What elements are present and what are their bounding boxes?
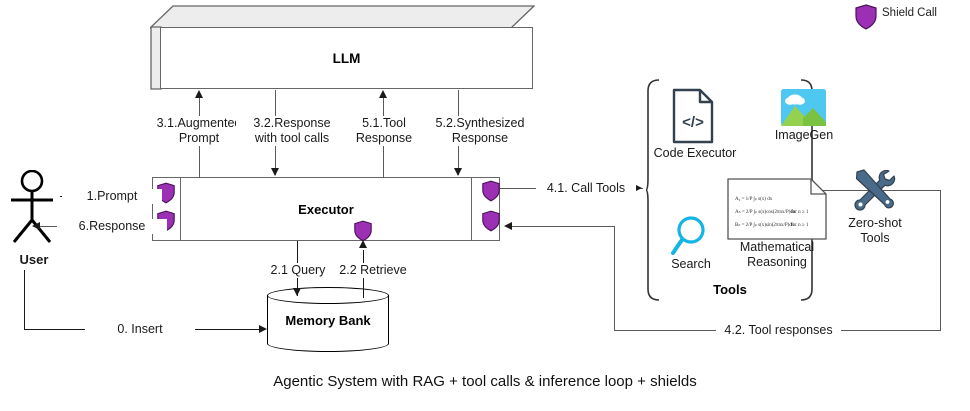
executor-node: Executor xyxy=(152,177,500,241)
magnifier-icon xyxy=(670,215,710,257)
edge-label-prompt: 1.Prompt xyxy=(62,189,162,204)
edge-label-tool-calls-l2: with tool calls xyxy=(236,131,348,146)
svg-text:</>: </> xyxy=(682,114,704,131)
edge-tool-calls-arrowhead xyxy=(271,168,279,176)
tools-group-label: Tools xyxy=(645,282,815,297)
llm-label: LLM xyxy=(160,27,533,89)
memory-bank-label: Memory Bank xyxy=(267,303,389,337)
svg-text:Aₙ = 2/P ∫ₚ s(x)cos(2πnx/P)dx: Aₙ = 2/P ∫ₚ s(x)cos(2πnx/P)dx xyxy=(735,209,796,215)
tool-label-search: Search xyxy=(656,257,726,272)
tool-label-imagegen: ImageGen xyxy=(760,128,848,143)
legend-shield-icon xyxy=(855,4,877,35)
formula-document-icon: A₀ = 1/P ∫ₚ s(x) dx Aₙ = 2/P ∫ₚ s(x)cos(… xyxy=(727,178,827,240)
memory-bank-node: Memory Bank xyxy=(267,287,389,352)
edge-tool-responses-right-v xyxy=(940,190,941,331)
user-stick-figure xyxy=(8,170,64,248)
legend-label: Shield Call xyxy=(882,7,937,19)
svg-text:A₀ = 1/P ∫ₚ s(x) dx: A₀ = 1/P ∫ₚ s(x) dx xyxy=(735,196,773,202)
edge-label-synth-response-l2: Response xyxy=(425,131,535,146)
user-label: User xyxy=(6,252,62,267)
executor-label: Executor xyxy=(153,178,499,240)
edge-tool-responses-arrowhead xyxy=(504,222,512,230)
edge-label-query: 2.1 Query xyxy=(258,263,338,278)
svg-text:for n ≥ 1: for n ≥ 1 xyxy=(791,210,809,215)
llm-box-top-face xyxy=(150,5,535,29)
edge-label-synth-response-l1: 5.2.Synthesized xyxy=(425,116,535,131)
edge-tool-responses-into-exec xyxy=(512,226,615,227)
edge-retrieve-arrowhead xyxy=(359,240,367,248)
shield-icon-executor-tool-response xyxy=(482,210,500,237)
edge-insert-vline xyxy=(24,270,25,330)
code-document-icon: </> xyxy=(672,88,714,144)
edge-tool-response-arrowhead xyxy=(379,90,387,98)
svg-text:for n ≥ 1: for n ≥ 1 xyxy=(791,223,809,228)
tool-label-code-executor: Code Executor xyxy=(650,146,740,161)
tool-label-math-reasoning-l1: Mathematical xyxy=(722,240,832,255)
edge-augmented-prompt-arrowhead xyxy=(195,90,203,98)
edge-response-arrowhead xyxy=(32,222,40,230)
edge-label-response: 6.Response xyxy=(57,219,167,234)
edge-label-insert: 0. Insert xyxy=(85,322,195,337)
edge-label-retrieve: 2.2 Retrieve xyxy=(333,263,413,278)
crossed-wrench-screwdriver-icon xyxy=(848,165,900,217)
edge-label-tool-calls-l1: 3.2.Response xyxy=(236,116,348,131)
tool-label-zero-shot-tools-l1: Zero-shot xyxy=(836,216,914,231)
edge-tool-responses-left-v xyxy=(614,226,615,331)
image-picture-icon xyxy=(781,89,826,126)
tool-label-math-reasoning-l2: Reasoning xyxy=(722,255,832,270)
diagram-canvas: Shield Call LLM Executor Memory xyxy=(0,0,970,411)
edge-label-tool-response-l1: 5.1.Tool xyxy=(337,116,431,131)
edge-label-tool-responses: 4.2. Tool responses xyxy=(716,323,841,338)
tool-label-zero-shot-tools-l2: Tools xyxy=(836,231,914,246)
shield-icon-executor-tool-call xyxy=(482,180,500,207)
diagram-caption: Agentic System with RAG + tool calls & i… xyxy=(0,373,970,390)
edge-synth-response-arrowhead xyxy=(454,168,462,176)
svg-text:Bₙ = 2/P ∫ₚ s(x)sin(2πnx/P)dx: Bₙ = 2/P ∫ₚ s(x)sin(2πnx/P)dx xyxy=(735,222,795,228)
llm-node: LLM xyxy=(150,5,535,90)
edge-label-call-tools: 4.1. Call Tools xyxy=(536,181,636,196)
edge-insert-arrowhead xyxy=(259,325,267,333)
memory-bank-top-ellipse xyxy=(267,287,389,304)
edge-label-tool-response-l2: Response xyxy=(337,131,431,146)
edge-query-arrowhead xyxy=(293,288,301,296)
